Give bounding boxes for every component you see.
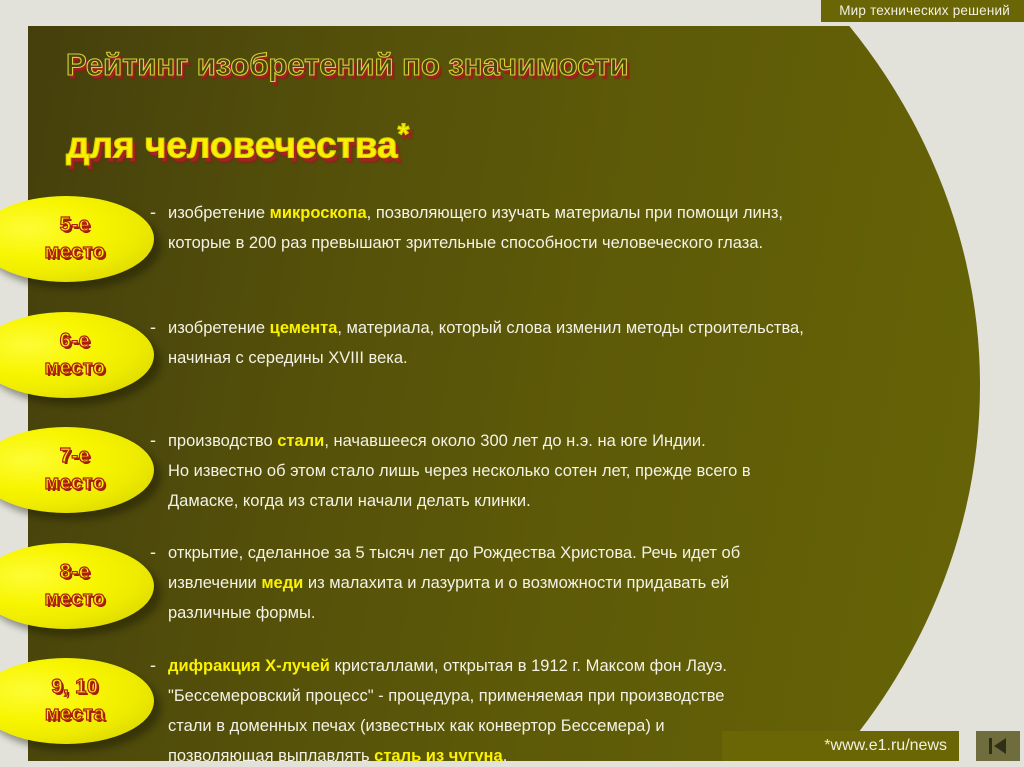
row-text-segment: из малахита и лазурита и о возможности п… [303, 574, 729, 592]
row-text-segment: Но известно об этом стало лишь через нес… [168, 462, 751, 480]
row-text-highlight: меди [261, 574, 303, 592]
previous-slide-button[interactable] [976, 731, 1020, 761]
bottom-margin-strip [0, 761, 1024, 767]
row-text-segment: , позволяющего изучать материалы при пом… [367, 204, 783, 222]
row-text-block: изобретение микроскопа, позволяющего изу… [168, 198, 1018, 258]
bullet-dash: - [150, 538, 156, 566]
rank-badge-line-1: 5-е [42, 212, 90, 239]
rank-badge-line-2: место [26, 586, 105, 613]
bullet-dash: - [150, 426, 156, 454]
row-text-block: изобретение цемента, материала, который … [168, 313, 1018, 373]
page-title-line-1: Рейтинг изобретений по значимости [66, 46, 629, 84]
slide-canvas: Мир технических решений Рейтинг изобрете… [0, 0, 1024, 767]
row-text-highlight: дифракция Х-лучей [168, 657, 330, 675]
row-text-segment: открытие, сделанное за 5 тысяч лет до Ро… [168, 544, 740, 562]
row-text-block: открытие, сделанное за 5 тысяч лет до Ро… [168, 538, 1018, 628]
row-text-highlight: цемента [270, 319, 338, 337]
page-title-line-2: для человечества* [66, 112, 409, 168]
row-text-line: Дамаске, когда из стали начали делать кл… [168, 486, 1018, 516]
row-text-segment: производство [168, 432, 277, 450]
row-text-segment: кристаллами, открытая в 1912 г. Максом ф… [330, 657, 727, 675]
bullet-dash: - [150, 313, 156, 341]
row-text-segment: начиная с середины XVIII века. [168, 349, 408, 367]
previous-first-icon [986, 736, 1010, 756]
row-text-line: "Бессемеровский процесс" - процедура, пр… [168, 681, 1018, 711]
row-text-line: открытие, сделанное за 5 тысяч лет до Ро… [168, 538, 1018, 568]
row-text-segment: изобретение [168, 319, 270, 337]
row-text-line: которые в 200 раз превышают зрительные с… [168, 228, 1018, 258]
row-text-segment: , материала, который слова изменил метод… [337, 319, 803, 337]
page-title-asterisk: * [398, 118, 410, 151]
row-text-line: изобретение цемента, материала, который … [168, 313, 1018, 343]
row-text-segment: , начавшееся около 300 лет до н.э. на юг… [324, 432, 705, 450]
row-text-line: извлечении меди из малахита и лазурита и… [168, 568, 1018, 598]
rank-badge-line-2: места [27, 701, 105, 728]
footer-source-url: *www.e1.ru/news [722, 731, 959, 761]
rank-badge-line-2: место [26, 470, 105, 497]
row-text-line: Но известно об этом стало лишь через нес… [168, 456, 1018, 486]
rank-badge-line-2: место [26, 239, 105, 266]
row-text-block: производство стали, начавшееся около 300… [168, 426, 1018, 516]
row-text-line: начиная с середины XVIII века. [168, 343, 1018, 373]
page-title-line-2-text: для человечества [66, 124, 398, 165]
row-text-segment: стали в доменных печах (известных как ко… [168, 717, 665, 735]
rank-badge-line-2: место [26, 355, 105, 382]
row-text-segment: изобретение [168, 204, 270, 222]
row-text-segment: извлечении [168, 574, 261, 592]
row-text-line: дифракция Х-лучей кристаллами, открытая … [168, 651, 1018, 681]
rank-badge-line-1: 9, 10 [34, 674, 99, 701]
rank-badge-line-1: 8-е [42, 559, 90, 586]
row-text-segment: "Бессемеровский процесс" - процедура, пр… [168, 687, 725, 705]
row-text-segment: различные формы. [168, 604, 315, 622]
rank-badge-line-1: 7-е [42, 443, 90, 470]
rank-badge-line-1: 6-е [42, 328, 90, 355]
bullet-dash: - [150, 198, 156, 226]
row-text-line: различные формы. [168, 598, 1018, 628]
header-banner: Мир технических решений [821, 0, 1024, 22]
row-text-segment: Дамаске, когда из стали начали делать кл… [168, 492, 531, 510]
bullet-dash: - [150, 651, 156, 679]
row-text-line: производство стали, начавшееся около 300… [168, 426, 1018, 456]
row-text-highlight: микроскопа [270, 204, 367, 222]
row-text-line: изобретение микроскопа, позволяющего изу… [168, 198, 1018, 228]
row-text-segment: которые в 200 раз превышают зрительные с… [168, 234, 763, 252]
row-text-highlight: стали [277, 432, 324, 450]
